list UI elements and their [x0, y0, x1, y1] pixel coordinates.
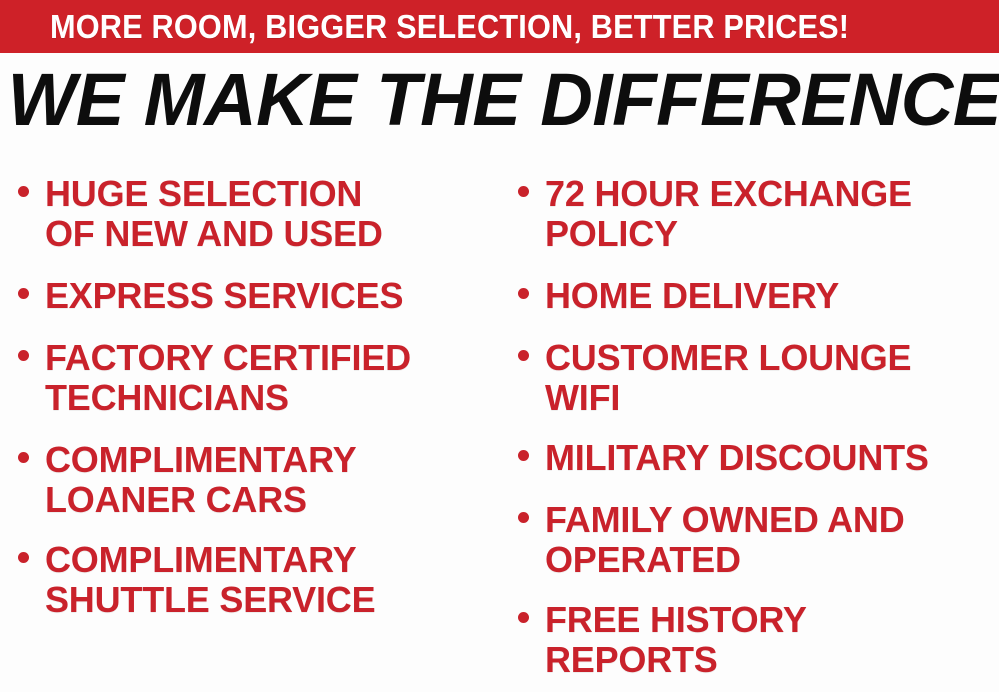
feature-columns: HUGE SELECTION OF NEW AND USED EXPRESS S…	[0, 160, 999, 692]
list-item-label: 72 HOUR EXCHANGE POLICY	[545, 174, 912, 255]
list-item-label: EXPRESS SERVICES	[45, 276, 403, 316]
bullet-dot-icon	[518, 186, 529, 197]
list-item: FACTORY CERTIFIED TECHNICIANS	[18, 338, 411, 419]
list-item-label: FREE HISTORY REPORTS	[545, 600, 807, 681]
list-item: COMPLIMENTARY LOANER CARS	[18, 440, 356, 521]
list-item: MILITARY DISCOUNTS	[518, 438, 929, 478]
promo-poster: MORE ROOM, BIGGER SELECTION, BETTER PRIC…	[0, 0, 999, 692]
feature-column-left: HUGE SELECTION OF NEW AND USED EXPRESS S…	[18, 160, 503, 692]
page-title: WE MAKE THE DIFFERENCE	[8, 62, 999, 139]
list-item-label: COMPLIMENTARY LOANER CARS	[45, 440, 356, 521]
list-item: FREE HISTORY REPORTS	[518, 600, 807, 681]
list-item-label: FACTORY CERTIFIED TECHNICIANS	[45, 338, 411, 419]
top-banner-text: MORE ROOM, BIGGER SELECTION, BETTER PRIC…	[50, 10, 849, 43]
list-item: EXPRESS SERVICES	[18, 276, 403, 316]
bullet-dot-icon	[18, 552, 29, 563]
bullet-dot-icon	[518, 450, 529, 461]
feature-column-right: 72 HOUR EXCHANGE POLICY HOME DELIVERY CU…	[518, 160, 999, 692]
list-item: FAMILY OWNED AND OPERATED	[518, 500, 905, 581]
list-item: HUGE SELECTION OF NEW AND USED	[18, 174, 383, 255]
bullet-dot-icon	[518, 612, 529, 623]
list-item: CUSTOMER LOUNGE WIFI	[518, 338, 911, 419]
bullet-dot-icon	[18, 186, 29, 197]
list-item: COMPLIMENTARY SHUTTLE SERVICE	[18, 540, 375, 621]
list-item: HOME DELIVERY	[518, 276, 839, 316]
bullet-dot-icon	[18, 452, 29, 463]
list-item-label: FAMILY OWNED AND OPERATED	[545, 500, 905, 581]
list-item-label: MILITARY DISCOUNTS	[545, 438, 929, 478]
list-item-label: HUGE SELECTION OF NEW AND USED	[45, 174, 383, 255]
bullet-dot-icon	[518, 350, 529, 361]
list-item-label: COMPLIMENTARY SHUTTLE SERVICE	[45, 540, 375, 621]
headline-container: WE MAKE THE DIFFERENCE	[0, 62, 999, 139]
bullet-dot-icon	[518, 288, 529, 299]
bullet-dot-icon	[18, 350, 29, 361]
bullet-dot-icon	[518, 512, 529, 523]
list-item-label: HOME DELIVERY	[545, 276, 839, 316]
list-item: 72 HOUR EXCHANGE POLICY	[518, 174, 912, 255]
bullet-dot-icon	[18, 288, 29, 299]
top-banner: MORE ROOM, BIGGER SELECTION, BETTER PRIC…	[0, 0, 999, 53]
list-item-label: CUSTOMER LOUNGE WIFI	[545, 338, 911, 419]
